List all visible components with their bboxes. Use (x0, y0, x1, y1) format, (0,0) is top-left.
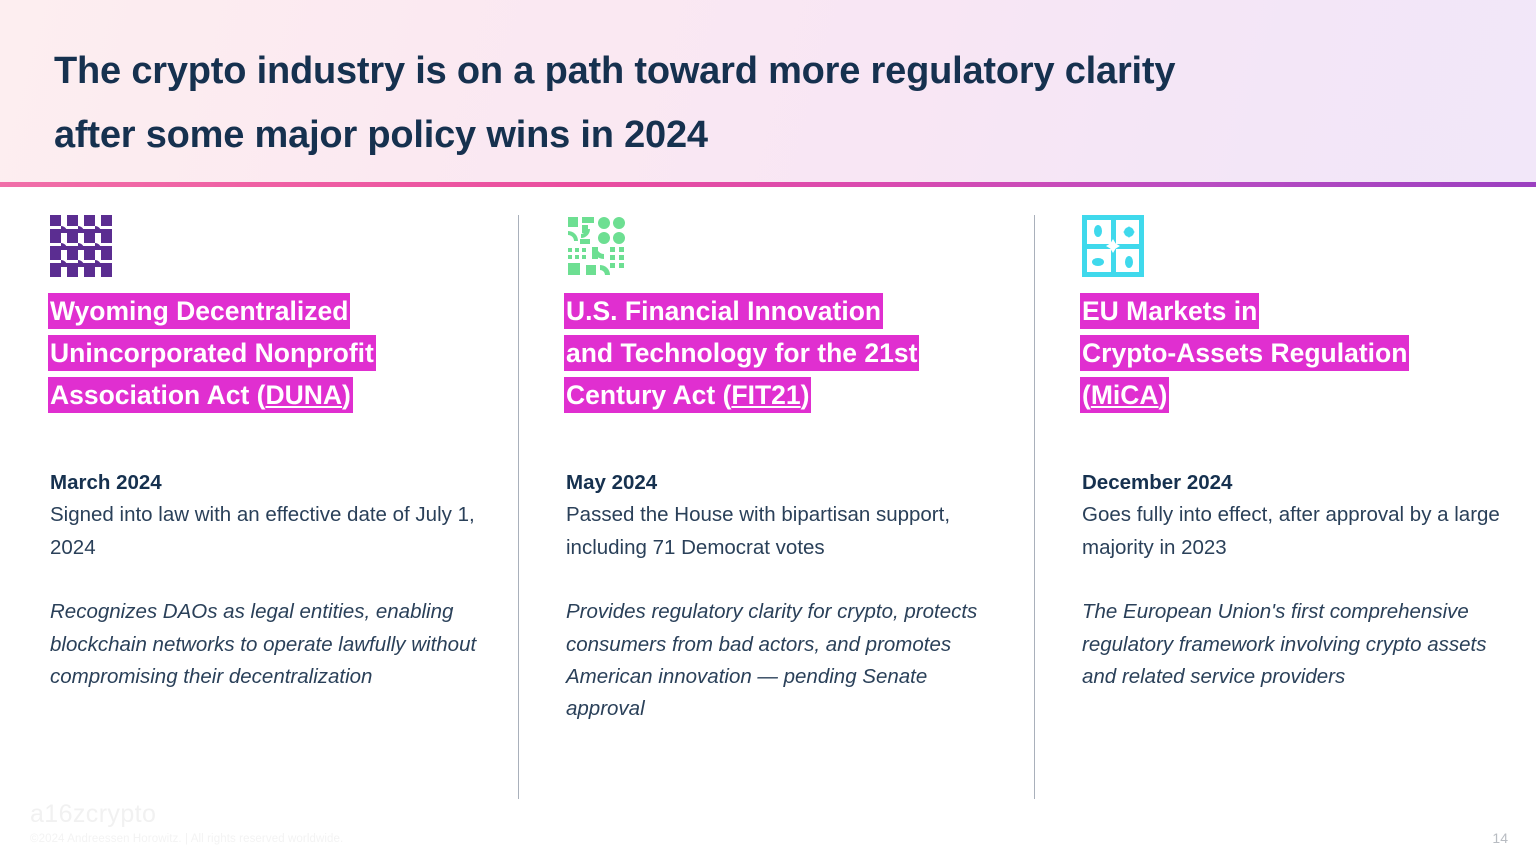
column-divider-1 (518, 215, 519, 799)
cyan-rounded-grid-icon (1082, 187, 1532, 263)
policy-heading-line-1: EU Markets in (1082, 295, 1257, 327)
policy-acronym-link[interactable]: MiCA (1091, 380, 1159, 410)
policy-heading: Wyoming Decentralized Unincorporated Non… (50, 291, 480, 417)
policy-heading-line-3-pre: ( (1082, 380, 1091, 410)
policy-italic-note: Provides regulatory clarity for crypto, … (566, 596, 996, 726)
policy-acronym-link[interactable]: FIT21 (731, 380, 800, 410)
policy-heading-line-3-pre: Century Act ( (566, 380, 731, 410)
policy-heading-line-1: Wyoming Decentralized (50, 295, 348, 327)
policy-heading-line-3-post: ) (1159, 380, 1168, 410)
policy-heading: U.S. Financial Innovation and Technology… (566, 291, 996, 417)
policy-card-fit21: U.S. Financial Innovation and Technology… (566, 187, 1016, 726)
policy-heading: EU Markets in Crypto-Assets Regulation (… (1082, 291, 1512, 417)
policy-heading-line-2: Crypto-Assets Regulation (1082, 337, 1407, 369)
policy-description: Goes fully into effect, after approval b… (1082, 499, 1512, 564)
policy-date: December 2024 (1082, 467, 1532, 500)
policy-acronym-link[interactable]: DUNA (265, 380, 342, 410)
policy-body: March 2024 Signed into law with an effec… (50, 467, 500, 694)
policy-heading-line-3: Association Act (DUNA) (50, 379, 351, 411)
policy-card-mica: EU Markets in Crypto-Assets Regulation (… (1082, 187, 1532, 693)
column-divider-2 (1034, 215, 1035, 799)
policy-date: March 2024 (50, 467, 500, 500)
page-title: The crypto industry is on a path toward … (54, 40, 1454, 168)
columns-container: Wyoming Decentralized Unincorporated Non… (0, 187, 1536, 807)
policy-heading-line-3: (MiCA) (1082, 379, 1167, 411)
policy-italic-note: Recognizes DAOs as legal entities, enabl… (50, 596, 480, 693)
policy-date: May 2024 (566, 467, 1016, 500)
policy-heading-line-3-post: ) (801, 380, 810, 410)
purple-checker-pattern-icon (50, 187, 500, 263)
policy-heading-line-3-post: ) (342, 380, 351, 410)
policy-heading-line-1: U.S. Financial Innovation (566, 295, 881, 327)
policy-body: December 2024 Goes fully into effect, af… (1082, 467, 1532, 694)
policy-description: Passed the House with bipartisan support… (566, 499, 996, 564)
policy-description: Signed into law with an effective date o… (50, 499, 480, 564)
policy-italic-note: The European Union's first comprehensive… (1082, 596, 1512, 693)
policy-heading-line-2: and Technology for the 21st (566, 337, 917, 369)
policy-body: May 2024 Passed the House with bipartisa… (566, 467, 1016, 726)
policy-heading-line-3: Century Act (FIT21) (566, 379, 809, 411)
policy-card-duna: Wyoming Decentralized Unincorporated Non… (50, 187, 500, 693)
slide-header-band: The crypto industry is on a path toward … (0, 0, 1536, 182)
green-organic-pattern-icon (566, 187, 1016, 263)
page-number: 14 (1492, 830, 1508, 846)
policy-heading-line-2: Unincorporated Nonprofit (50, 337, 374, 369)
policy-heading-line-3-pre: Association Act ( (50, 380, 265, 410)
copyright-text: ©2024 Andreessen Horowitz. | All rights … (30, 833, 343, 845)
a16zcrypto-logo: a16zcrypto (30, 800, 156, 829)
